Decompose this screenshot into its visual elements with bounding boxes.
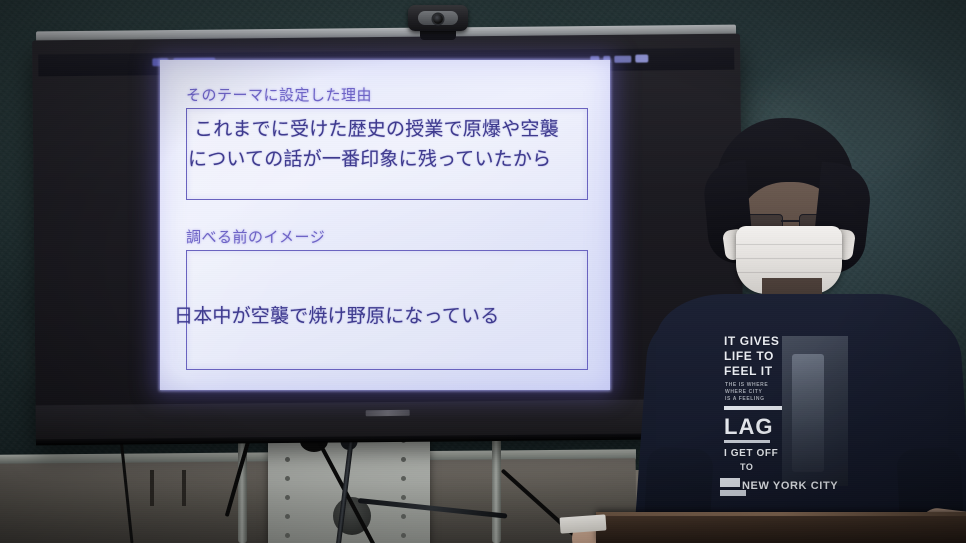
shirt-graphic: IT GIVES LIFE TO FEEL IT THE IS WHERE WH… (720, 328, 855, 513)
slide-image-line-1: 日本中が空襲で焼け野原になっている (174, 301, 499, 331)
clock-icon (614, 55, 631, 62)
tv-brand-logo (366, 410, 410, 416)
webcam (408, 5, 468, 31)
presenter: IT GIVES LIFE TO FEEL IT THE IS WHERE WH… (620, 118, 966, 543)
shirt-rule-2 (724, 440, 770, 443)
shirt-sub-line-2: TO (740, 462, 754, 472)
slide-section-label-reason: そのテーマに設定した理由 (186, 84, 372, 105)
slide-reason-line-1: これまでに受けた歴史の授業で原爆や空襲 (194, 114, 559, 144)
shirt-text-line-1: IT GIVES (724, 334, 779, 348)
slide-reason-line-2: についての話が一番印象に残っていたから (188, 144, 551, 174)
cart-rivets-right (401, 438, 406, 543)
paper-sheet (559, 514, 606, 533)
shirt-city-text: NEW YORK CITY (742, 480, 838, 492)
podium (596, 512, 966, 543)
presentation-slide: そのテーマに設定した理由 これまでに受けた歴史の授業で原爆や空襲 についての話が… (160, 60, 610, 390)
slide-section-label-image: 調べる前のイメージ (186, 226, 325, 247)
shirt-sub-line-1: I GET OFF (724, 448, 778, 459)
glasses-bridge (781, 220, 799, 222)
shirt-block-1 (720, 478, 740, 487)
shirt-brand: LAG (724, 414, 773, 440)
shirt-rule-1 (724, 406, 782, 410)
battery-icon (635, 54, 648, 62)
podium-edge (596, 512, 966, 516)
ledge-slot (150, 470, 154, 506)
shirt-text-line-2: LIFE TO (724, 349, 774, 363)
screenshot-root: そのテーマに設定した理由 これまでに受けた歴史の授業で原爆や空襲 についての話が… (0, 0, 966, 543)
shirt-small-print: THE IS WHERE WHERE CITY IS A FEELING (725, 382, 768, 403)
cart-rivets-left (285, 438, 290, 543)
camera-lens-icon (433, 14, 443, 24)
shirt-photo-print (782, 336, 848, 486)
ledge-slot (182, 470, 186, 506)
shirt-text-line-3: FEEL IT (724, 364, 773, 378)
